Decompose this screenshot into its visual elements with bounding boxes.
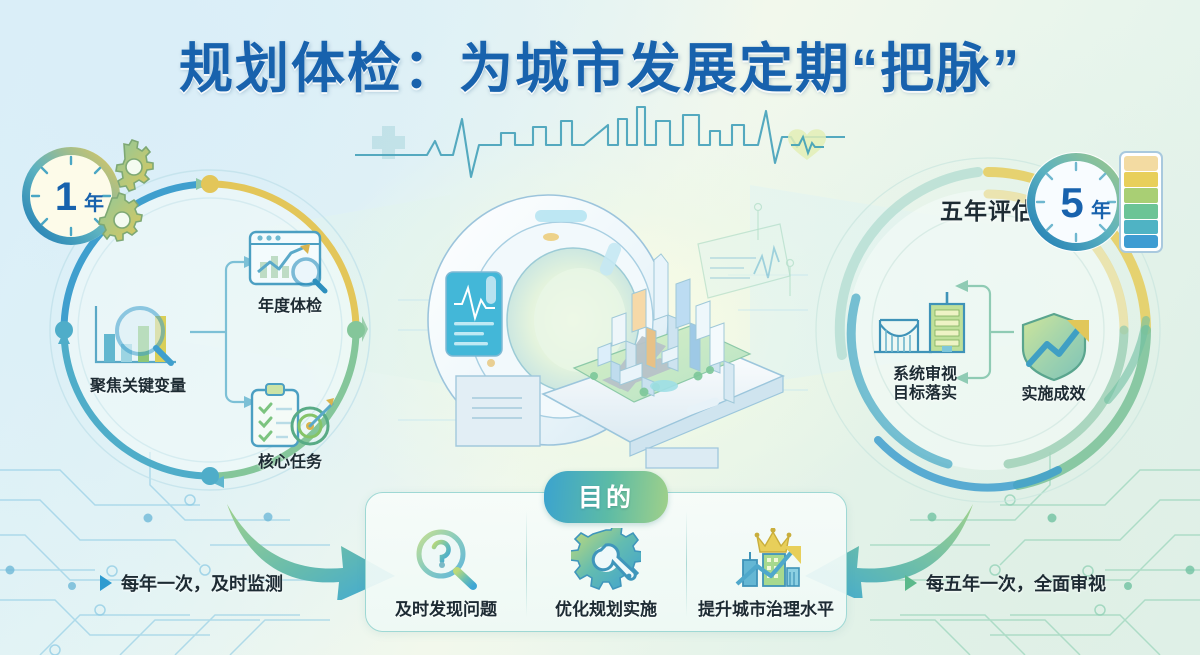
caption-annual: 每年一次，及时监测 bbox=[100, 570, 283, 596]
node-implementation-effect: 实施成效 bbox=[996, 310, 1111, 405]
purpose-item-label: 提升城市治理水平 bbox=[698, 595, 834, 620]
clock-colorbar-icon: 5 年 bbox=[1020, 142, 1180, 262]
purpose-item-improve-governance: 提升城市治理水平 bbox=[686, 493, 846, 631]
node-core-tasks: 核心任务 bbox=[225, 382, 355, 473]
purpose-item-label: 及时发现问题 bbox=[395, 595, 497, 620]
clock-unit: 年 bbox=[1091, 198, 1111, 222]
node-label: 年度体检 bbox=[258, 298, 322, 317]
page-title: 规划体检：为城市发展定期“把脉” bbox=[0, 24, 1200, 103]
node-label: 聚焦关键变量 bbox=[90, 378, 186, 397]
clipboard-target-icon bbox=[244, 382, 336, 450]
node-label: 实施成效 bbox=[1021, 386, 1085, 405]
gear-wrench-icon bbox=[571, 526, 641, 592]
node-systematic-review: 系统审视 目标落实 bbox=[860, 290, 990, 404]
purpose-item-label: 优化规划实施 bbox=[555, 595, 657, 620]
five-year-cycle: 五年评估 5 年 bbox=[808, 150, 1168, 510]
triangle-bullet-icon bbox=[905, 575, 917, 591]
caption-text: 每年一次，及时监测 bbox=[121, 570, 283, 596]
annual-cycle: 1 年 聚焦关键变量 bbox=[30, 150, 390, 510]
clock-gears-icon: 1 年 bbox=[16, 136, 171, 261]
node-label-line1: 系统审视 bbox=[893, 366, 957, 383]
infographic-canvas: 规划体检：为城市发展定期“把脉” bbox=[0, 0, 1200, 655]
shield-growth-arrow-icon bbox=[1011, 310, 1097, 382]
bar-chart-magnifier-icon bbox=[84, 298, 192, 374]
node-label-line2: 目标落实 bbox=[893, 385, 957, 402]
dashboard-trend-magnifier-icon bbox=[244, 228, 336, 294]
crown-city-growth-icon bbox=[727, 526, 805, 592]
purpose-item-optimize-plan: 优化规划实施 bbox=[526, 493, 686, 631]
clock-unit: 年 bbox=[84, 191, 104, 215]
node-annual-checkup: 年度体检 bbox=[225, 228, 355, 317]
node-label: 核心任务 bbox=[258, 454, 322, 473]
caption-five-year: 每五年一次，全面审视 bbox=[905, 570, 1106, 596]
node-label: 系统审视 目标落实 bbox=[893, 366, 957, 404]
ecg-skyline-icon bbox=[355, 103, 845, 183]
color-scale-bar bbox=[1120, 152, 1162, 252]
node-key-variables: 聚焦关键变量 bbox=[68, 298, 208, 397]
question-magnifier-icon bbox=[411, 526, 481, 592]
triangle-bullet-icon bbox=[100, 575, 112, 591]
clock-number: 1 bbox=[55, 175, 77, 219]
mri-scanner-city-icon bbox=[398, 180, 808, 480]
purpose-item-find-problems: 及时发现问题 bbox=[366, 493, 526, 631]
purpose-panel: 目的 及时发现问题 bbox=[365, 492, 847, 632]
bridge-building-icon bbox=[870, 290, 980, 362]
caption-text: 每五年一次，全面审视 bbox=[926, 570, 1106, 596]
clock-number: 5 bbox=[1060, 179, 1083, 226]
